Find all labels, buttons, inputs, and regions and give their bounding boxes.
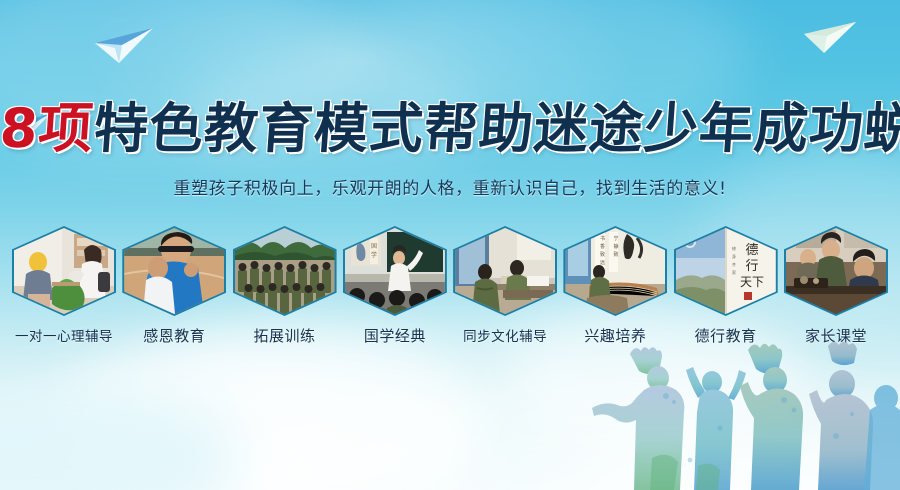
svg-text:远: 远 [600, 259, 605, 266]
cloud-wash [60, 330, 490, 490]
svg-text:致: 致 [600, 251, 605, 258]
svg-text:静: 静 [614, 243, 619, 250]
paper-plane-blue-large-icon [93, 26, 155, 71]
photo-study-classroom [455, 228, 555, 314]
program-item-gratitude[interactable]: 感恩教育 [122, 226, 226, 346]
program-item-classics[interactable]: 国 学 [343, 226, 447, 346]
page-title: 8项特色教育模式帮助迷途少年成功蜕变 [0, 98, 900, 160]
photo-parent-meeting-room [786, 228, 886, 314]
hexagon-frame[interactable] [233, 226, 337, 316]
paper-plane-white-icon [800, 18, 858, 61]
photo-student-hug [124, 228, 224, 314]
program-label: 家长课堂 [805, 325, 867, 346]
headline-highlight: 8项 [0, 98, 96, 160]
svg-text:致: 致 [614, 251, 619, 258]
program-label: 德行教育 [695, 325, 757, 346]
program-hexagon-row: 一对一心理辅导 [12, 226, 888, 351]
program-label: 兴趣培养 [584, 325, 646, 346]
program-label: 感恩教育 [143, 325, 205, 346]
hexagon-frame[interactable]: 国 学 [343, 226, 447, 316]
svg-text:宁: 宁 [614, 235, 619, 242]
cloud-wash [0, 380, 240, 490]
svg-text:修: 修 [732, 245, 736, 251]
program-item-culture-tutoring[interactable]: 同步文化辅导 [453, 226, 557, 345]
program-item-parent-class[interactable]: 家长课堂 [784, 226, 888, 346]
photo-counseling-session [14, 228, 114, 314]
program-label: 一对一心理辅导 [15, 325, 113, 345]
hexagon-frame[interactable] [12, 226, 116, 316]
headline-rest: 特色教育模式帮助迷途少年成功蜕变 [91, 98, 900, 160]
svg-text:书: 书 [600, 235, 605, 242]
svg-text:齐: 齐 [732, 261, 736, 267]
svg-text:天下: 天下 [740, 275, 764, 289]
svg-text:学: 学 [371, 251, 377, 259]
program-label: 同步文化辅导 [463, 325, 547, 345]
photo-guzheng-music-room: 书香致远 宁静致 [565, 228, 665, 314]
hexagon-frame[interactable] [122, 226, 226, 316]
photo-outdoor-training-formation [235, 228, 335, 314]
program-label: 拓展训练 [254, 325, 316, 346]
crowd-silhouette-icon [570, 340, 900, 490]
hexagon-frame[interactable]: 德 行 天下 修身齐家 [674, 226, 778, 316]
svg-text:香: 香 [600, 243, 605, 250]
photo-virtue-book-cover: 德 行 天下 修身齐家 [676, 228, 776, 314]
svg-text:身: 身 [732, 253, 736, 259]
photo-classroom-lecture: 国 学 [345, 228, 445, 314]
hexagon-frame[interactable] [784, 226, 888, 316]
svg-text:国: 国 [371, 243, 377, 250]
hexagon-frame[interactable]: 书香致远 宁静致 [563, 226, 667, 316]
hexagon-frame[interactable] [453, 226, 557, 316]
program-item-counseling[interactable]: 一对一心理辅导 [12, 226, 116, 345]
svg-text:行: 行 [745, 259, 758, 274]
program-item-outdoor-training[interactable]: 拓展训练 [233, 226, 337, 346]
page-subtitle: 重塑孩子积极向上，乐观开朗的人格，重新认识自己，找到生活的意义! [0, 174, 900, 199]
program-item-virtue-education[interactable]: 德 行 天下 修身齐家 德行教育 [674, 226, 778, 346]
program-item-interest-cultivation[interactable]: 书香致远 宁静致 [563, 226, 667, 346]
program-label: 国学经典 [364, 325, 426, 346]
svg-text:德: 德 [745, 243, 758, 258]
svg-text:家: 家 [732, 269, 736, 275]
promo-banner: 8项特色教育模式帮助迷途少年成功蜕变 重塑孩子积极向上，乐观开朗的人格，重新认识… [0, 0, 900, 490]
